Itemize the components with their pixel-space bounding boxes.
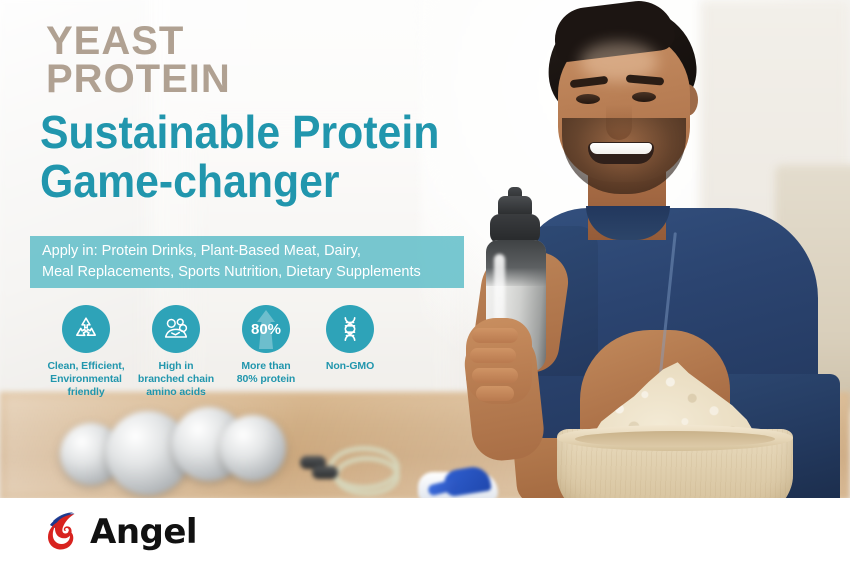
protein-percent-value: 80% (251, 321, 281, 338)
recycling-icon (62, 305, 110, 353)
dumbbells (60, 405, 290, 500)
angel-logo[interactable]: Angel (38, 506, 338, 558)
feature-list: Clean, Efficient, Environmental friendly… (28, 305, 428, 405)
jump-rope (300, 440, 420, 495)
application-line-2: Meal Replacements, Sports Nutrition, Die… (42, 262, 452, 283)
hand (466, 318, 532, 404)
feature-non-gmo: Non-GMO (300, 305, 400, 373)
angel-logo-text: Angel (90, 512, 197, 552)
dna-icon (326, 305, 374, 353)
protein-percent-icon: 80% (242, 305, 290, 353)
eye-left (576, 94, 600, 104)
kicker-line-2: PROTEIN (46, 60, 231, 98)
feature-label: High in branched chain amino acids (138, 360, 214, 398)
feature-clean-efficient: Clean, Efficient, Environmental friendly (36, 305, 136, 398)
mouth (588, 142, 654, 164)
feature-label: More than 80% protein (237, 360, 295, 386)
kicker-heading: YEAST PROTEIN (46, 22, 231, 99)
kicker-line-1: YEAST (46, 22, 231, 60)
amino-acids-icon (152, 305, 200, 353)
angel-swirl-logo-icon (38, 508, 86, 556)
footer: Angel (0, 498, 850, 567)
headline-line-1: Sustainable Protein (40, 108, 439, 157)
eye-right (632, 92, 656, 102)
yeast-protein-banner: YEAST PROTEIN Sustainable Protein Game-c… (0, 0, 850, 567)
bowl-of-protein-powder (545, 355, 805, 500)
headline-line-2: Game-changer (40, 157, 439, 206)
feature-label: Clean, Efficient, Environmental friendly (36, 360, 136, 398)
feature-label: Non-GMO (326, 360, 374, 373)
headline: Sustainable Protein Game-changer (40, 108, 439, 206)
feature-branched-chain-amino-acids: High in branched chain amino acids (126, 305, 226, 398)
application-band: Apply in: Protein Drinks, Plant-Based Me… (30, 236, 464, 288)
bowl-rim-inner (575, 431, 775, 447)
application-line-1: Apply in: Protein Drinks, Plant-Based Me… (42, 241, 452, 262)
